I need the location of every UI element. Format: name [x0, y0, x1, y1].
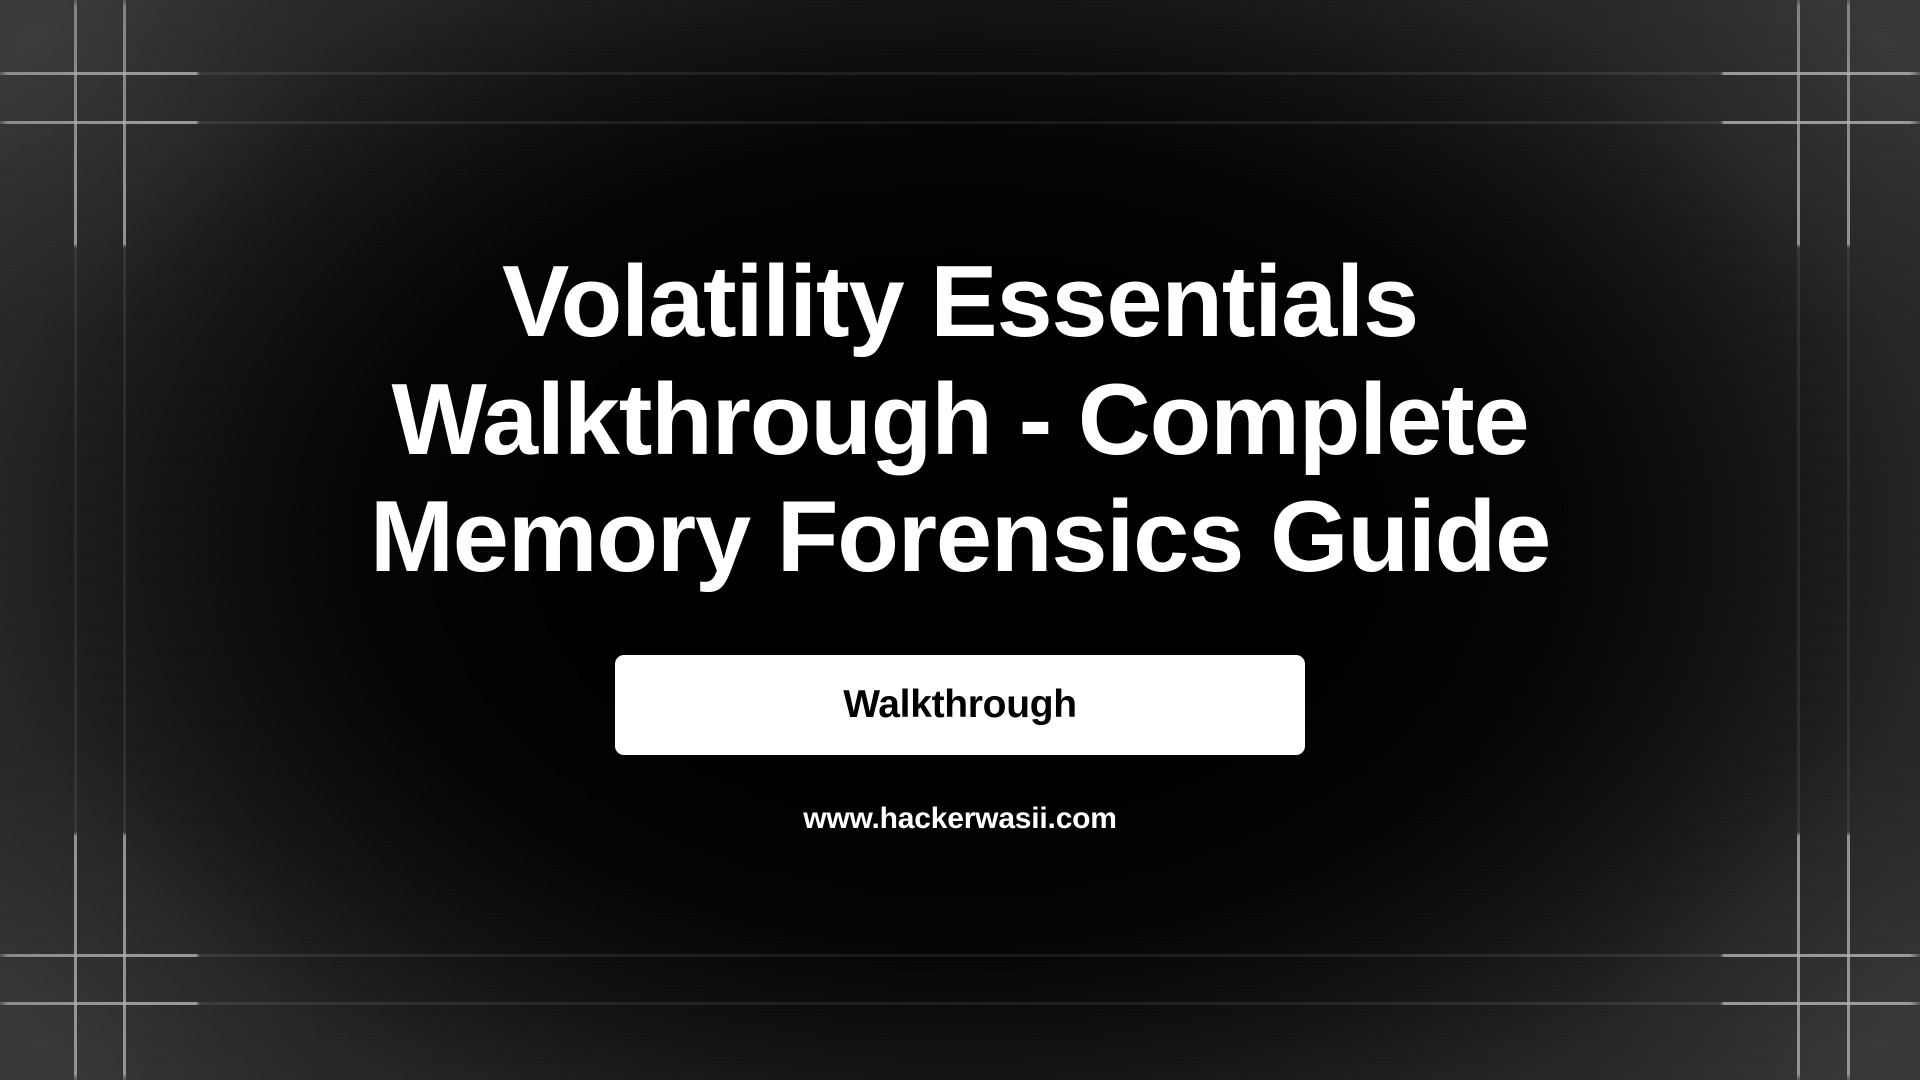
page-title: Volatility Essentials Walkthrough - Comp…	[350, 244, 1570, 597]
slide-content: Volatility Essentials Walkthrough - Comp…	[0, 0, 1920, 1080]
category-badge-label: Walkthrough	[843, 683, 1077, 727]
category-badge: Walkthrough	[615, 655, 1305, 755]
website-url: www.hackerwasii.com	[803, 802, 1117, 836]
title-slide: Volatility Essentials Walkthrough - Comp…	[0, 0, 1920, 1080]
